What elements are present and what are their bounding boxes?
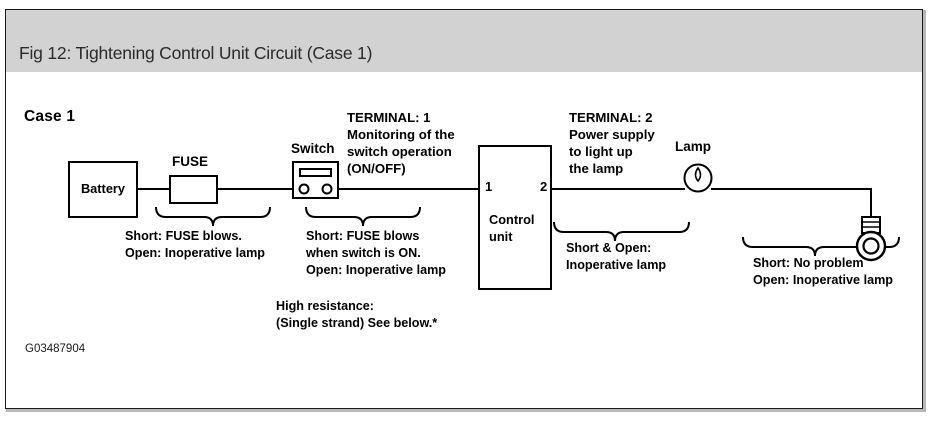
terminal-2-heading: TERMINAL: 2 [569, 110, 655, 127]
terminal-1-line-1: Monitoring of the [347, 127, 455, 144]
control-unit-label-line1: Control [489, 212, 535, 229]
battery-label: Battery [70, 163, 136, 216]
note-switch-segment: Short: FUSE blows when switch is ON. Ope… [306, 228, 446, 279]
control-unit-pin-2: 2 [540, 178, 547, 195]
switch-label: Switch [291, 140, 335, 158]
note-fuse-line-2: Open: Inoperative lamp [125, 245, 265, 262]
note-switch-line-3: Open: Inoperative lamp [306, 262, 446, 279]
terminal-2-line-2: to light up [569, 144, 655, 161]
lamp-symbol [685, 165, 712, 192]
figure-panel: Fig 12: Tightening Control Unit Circuit … [5, 9, 923, 409]
note-high-resistance-line-1: High resistance: [276, 298, 437, 315]
ground-terminal-symbol [857, 217, 885, 260]
fuse-label: FUSE [172, 153, 208, 171]
note-terminal2-line-2: Inoperative lamp [566, 257, 666, 274]
note-switch-line-1: Short: FUSE blows [306, 228, 446, 245]
note-high-resistance-line-2: (Single strand) See below.* [276, 315, 437, 332]
terminal-2-callout: TERMINAL: 2 Power supply to light up the… [569, 110, 655, 178]
note-fuse-line-1: Short: FUSE blows. [125, 228, 265, 245]
terminal-1-callout: TERMINAL: 1 Monitoring of the switch ope… [347, 110, 455, 178]
note-switch-line-2: when switch is ON. [306, 245, 446, 262]
terminal-1-line-2: switch operation [347, 144, 455, 161]
battery-box: Battery [68, 161, 138, 218]
figure-title: Fig 12: Tightening Control Unit Circuit … [6, 43, 372, 72]
control-unit-pin-1: 1 [485, 178, 492, 195]
terminal-2-line-1: Power supply [569, 127, 655, 144]
screenshot-root: Fig 12: Tightening Control Unit Circuit … [0, 0, 940, 425]
note-ground-line-2: Open: Inoperative lamp [753, 272, 893, 289]
note-ground-segment: Short: No problem Open: Inoperative lamp [753, 255, 893, 289]
terminal-2-line-3: the lamp [569, 161, 655, 178]
note-terminal2-segment: Short & Open: Inoperative lamp [566, 240, 666, 274]
figure-header-bar: Fig 12: Tightening Control Unit Circuit … [6, 10, 922, 72]
note-ground-line-1: Short: No problem [753, 255, 893, 272]
lamp-label: Lamp [675, 138, 711, 156]
terminal-1-line-3: (ON/OFF) [347, 161, 455, 178]
switch-symbol [293, 162, 338, 198]
terminal-1-heading: TERMINAL: 1 [347, 110, 455, 127]
fuse-box [169, 175, 218, 204]
control-unit-label-line2: unit [489, 229, 512, 246]
figure-id: G03487904 [25, 342, 85, 357]
note-fuse-segment: Short: FUSE blows. Open: Inoperative lam… [125, 228, 265, 262]
circuit-diagram: Case 1 [6, 72, 922, 408]
note-terminal2-line-1: Short & Open: [566, 240, 666, 257]
note-high-resistance: High resistance: (Single strand) See bel… [276, 298, 437, 332]
